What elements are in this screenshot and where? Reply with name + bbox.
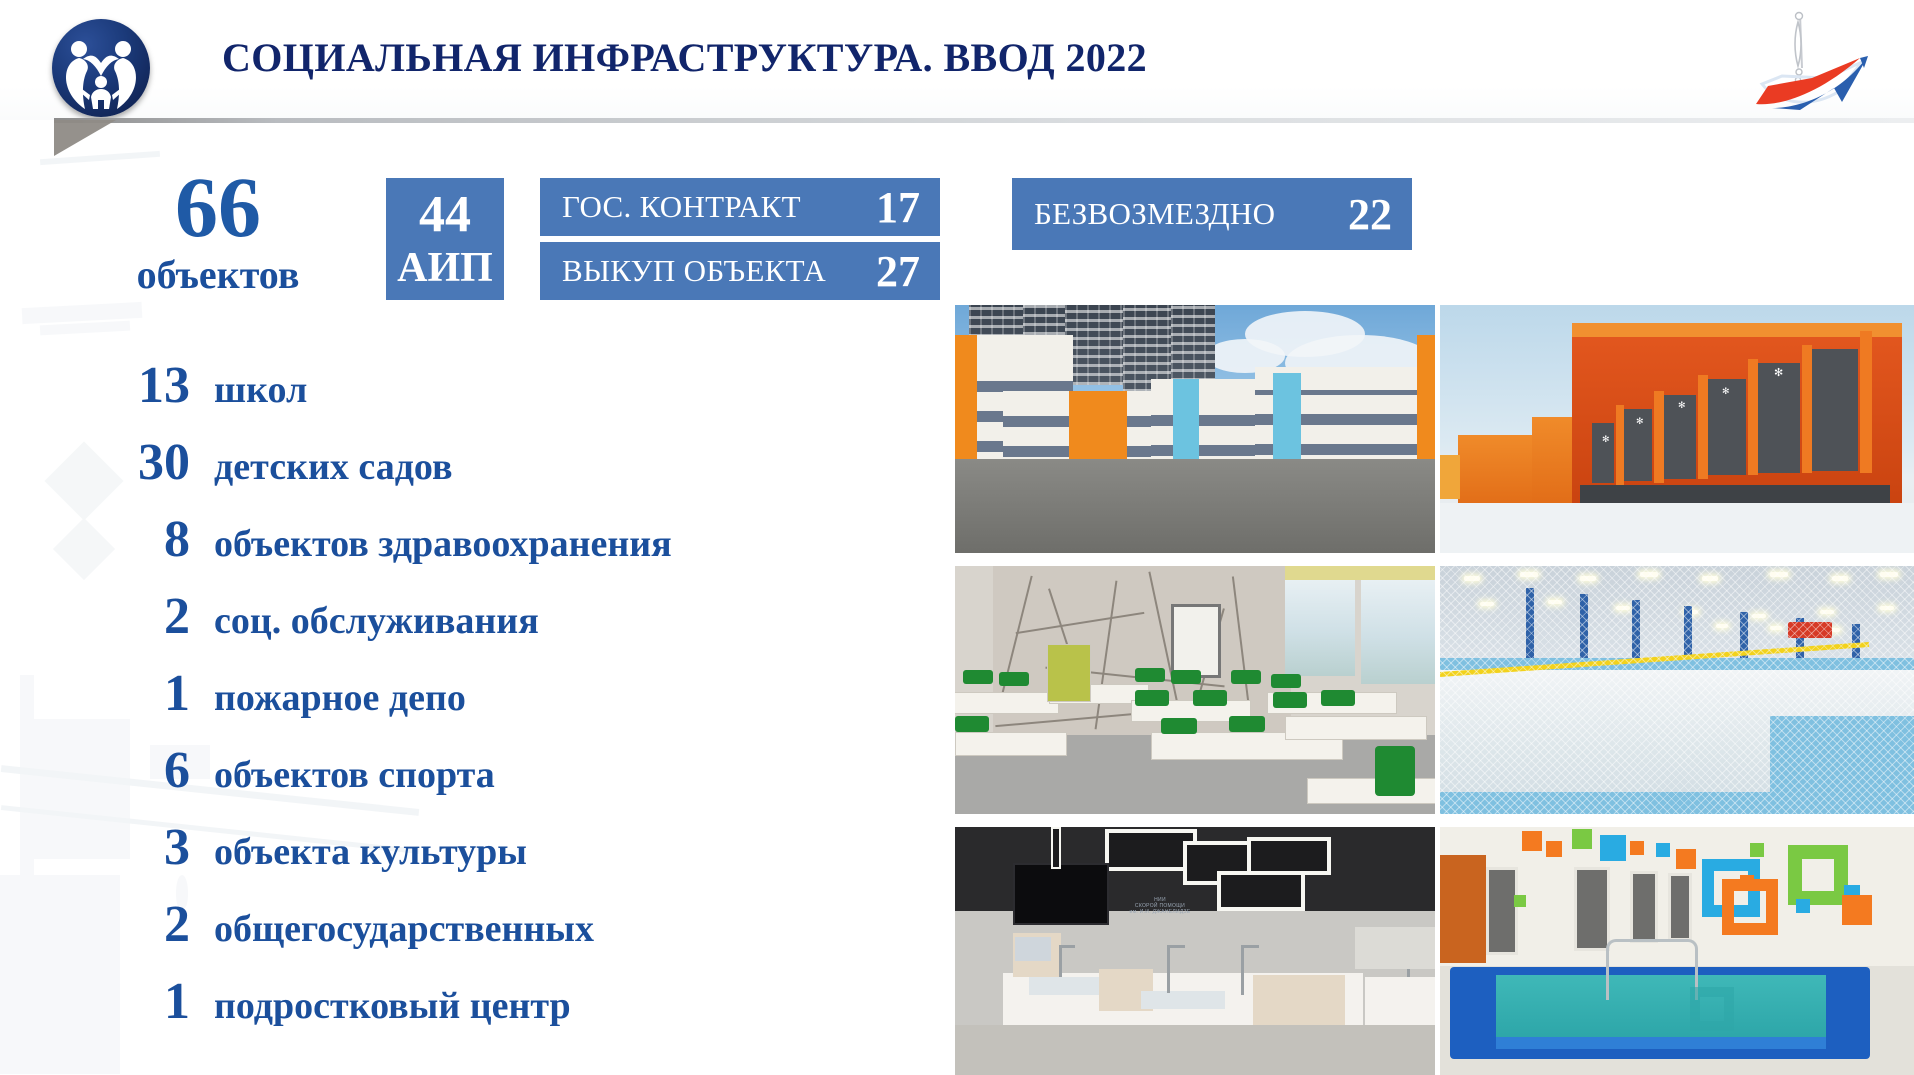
bezvozmezdno-box: БЕЗВОЗМЕЗДНО 22 (1012, 178, 1412, 250)
list-item: 1 пожарное депо (118, 668, 928, 745)
slide-header: СОЦИАЛЬНАЯ ИНФРАСТРУКТУРА. ВВОД 2022 (0, 0, 1914, 120)
sailboat-arrow-logo-icon (1742, 6, 1882, 118)
list-item-label: объекта культуры (214, 833, 527, 871)
header-divider (54, 118, 1914, 123)
school-exterior-photo (955, 305, 1435, 553)
list-item: 2 соц. обслуживания (118, 591, 928, 668)
list-item: 6 объектов спорта (118, 745, 928, 822)
aip-count: 44 (419, 189, 471, 241)
list-item-count: 2 (118, 591, 214, 643)
list-item-label: объектов здравоохранения (214, 525, 672, 563)
photo-gallery: ✻ ✻ ✻ ✻ ✻ (955, 305, 1895, 1062)
list-item-count: 2 (118, 899, 214, 951)
kindergarten-swimming-pool-photo (1440, 827, 1914, 1075)
vykup-objekta-value: 27 (876, 246, 920, 297)
list-item-label: общегосударственных (214, 910, 594, 948)
total-objects-block: 66 объектов (118, 168, 318, 298)
list-item-count: 1 (118, 668, 214, 720)
wall-sign-text: НИИ СКОРОЙ ПОМОЩИ им. И.И. ДЖАНЕЛИДЗЕ (1105, 897, 1215, 915)
total-objects-label: объектов (118, 251, 318, 298)
header-corner-fold (54, 120, 116, 156)
gos-contract-box: ГОС. КОНТРАКТ 17 (540, 178, 940, 236)
list-item: 8 объектов здравоохранения (118, 514, 928, 591)
list-item-count: 8 (118, 514, 214, 566)
school-classroom-interior-photo (955, 566, 1435, 814)
list-item-count: 1 (118, 976, 214, 1028)
bezvozmezdno-value: 22 (1348, 189, 1392, 240)
list-item: 13 школ (118, 360, 928, 437)
list-item-count: 13 (118, 360, 214, 412)
list-item: 3 объекта культуры (118, 822, 928, 899)
vykup-objekta-box: ВЫКУП ОБЪЕКТА 27 (540, 242, 940, 300)
aip-program-box: 44 АИП (386, 178, 504, 300)
list-item-label: объектов спорта (214, 756, 495, 794)
aip-label: АИП (397, 247, 493, 289)
list-item-count: 6 (118, 745, 214, 797)
object-breakdown-list: 13 школ 30 детских садов 8 объектов здра… (118, 360, 928, 1053)
list-item-label: пожарное депо (214, 679, 466, 717)
list-item-label: подростковый центр (214, 987, 571, 1025)
vykup-objekta-label: ВЫКУП ОБЪЕКТА (562, 253, 826, 289)
list-item: 1 подростковый центр (118, 976, 928, 1053)
list-item-label: соц. обслуживания (214, 602, 539, 640)
sports-complex-exterior-winter-photo: ✻ ✻ ✻ ✻ ✻ (1440, 305, 1914, 553)
list-item-label: школ (214, 371, 307, 409)
list-item-count: 30 (118, 437, 214, 489)
page-title: СОЦИАЛЬНАЯ ИНФРАСТРУКТУРА. ВВОД 2022 (222, 34, 1147, 81)
family-heart-emblem-icon (52, 19, 150, 117)
list-item-count: 3 (118, 822, 214, 874)
total-objects-count: 66 (118, 168, 318, 247)
list-item: 30 детских садов (118, 437, 928, 514)
gos-contract-value: 17 (876, 182, 920, 233)
bezvozmezdno-label: БЕЗВОЗМЕЗДНО (1034, 196, 1275, 232)
hospital-reception-interior-photo: НИИ СКОРОЙ ПОМОЩИ им. И.И. ДЖАНЕЛИДЗЕ (955, 827, 1435, 1075)
list-item-label: детских садов (214, 448, 453, 486)
ice-rink-interior-photo (1440, 566, 1914, 814)
gos-contract-label: ГОС. КОНТРАКТ (562, 189, 801, 225)
list-item: 2 общегосударственных (118, 899, 928, 976)
